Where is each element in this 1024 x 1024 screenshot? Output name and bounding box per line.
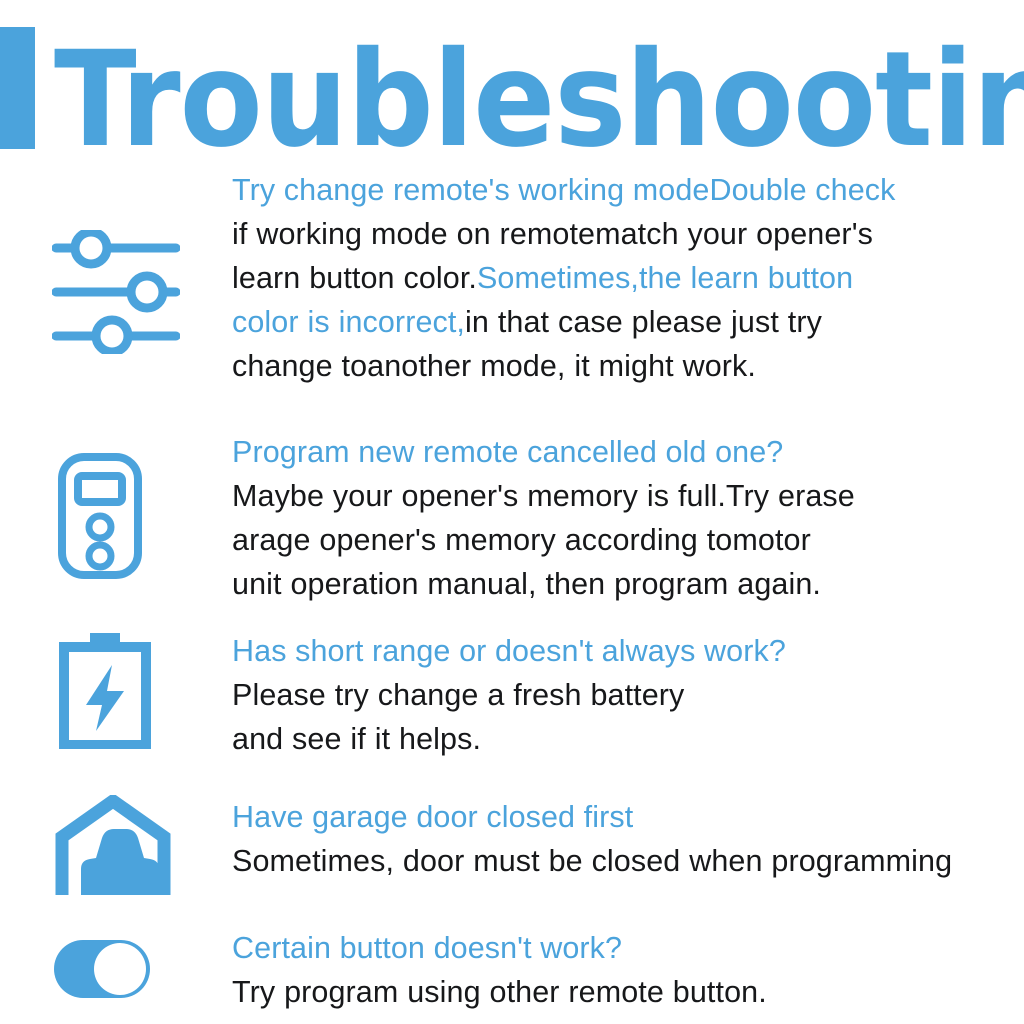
garage-car-icon bbox=[52, 795, 174, 899]
icon-cell bbox=[0, 168, 232, 354]
section-line: if working mode on remotematch your open… bbox=[232, 212, 1018, 256]
icon-cell bbox=[0, 430, 232, 580]
section-line: color is incorrect,in that case please j… bbox=[232, 300, 1018, 344]
sliders-icon bbox=[52, 230, 180, 354]
battery-icon bbox=[52, 631, 162, 749]
section-heading: Try change remote's working modeDouble c… bbox=[232, 168, 1018, 212]
remote-control-icon bbox=[52, 452, 164, 580]
section-line: Try program using other remote button. bbox=[232, 970, 1018, 1014]
section-line: Sometimes, door must be closed when prog… bbox=[232, 839, 1018, 883]
section-line: Maybe your opener's memory is full.Try e… bbox=[232, 474, 1018, 518]
text-cell: Certain button doesn't work? Try program… bbox=[232, 926, 1024, 1014]
icon-cell bbox=[0, 926, 232, 1000]
section-line: and see if it helps. bbox=[232, 717, 1018, 761]
line-part: change toanother mode, it might work. bbox=[232, 349, 756, 383]
section-working-mode: Try change remote's working modeDouble c… bbox=[0, 168, 1024, 388]
line-part-highlight: Sometimes,the learn button bbox=[477, 261, 853, 295]
line-part-highlight: color is incorrect, bbox=[232, 305, 465, 339]
section-garage-door: Have garage door closed first Sometimes,… bbox=[0, 795, 1024, 899]
section-line: learn button color.Sometimes,the learn b… bbox=[232, 256, 1018, 300]
line-part: in that case please just try bbox=[465, 305, 822, 339]
text-cell: Program new remote cancelled old one? Ma… bbox=[232, 430, 1024, 606]
section-line: unit operation manual, then program agai… bbox=[232, 562, 1018, 606]
section-heading: Have garage door closed first bbox=[232, 795, 1018, 839]
text-cell: Have garage door closed first Sometimes,… bbox=[232, 795, 1024, 883]
page-header: Troubleshooting bbox=[0, 27, 1024, 149]
section-heading: Program new remote cancelled old one? bbox=[232, 430, 1018, 474]
section-memory: Program new remote cancelled old one? Ma… bbox=[0, 430, 1024, 606]
icon-cell bbox=[0, 795, 232, 899]
section-heading: Certain button doesn't work? bbox=[232, 926, 1018, 970]
section-line: change toanother mode, it might work. bbox=[232, 344, 1018, 388]
section-line: Please try change a fresh battery bbox=[232, 673, 1018, 717]
line-part: if working mode on remotematch your open… bbox=[232, 217, 873, 251]
section-toggle: Certain button doesn't work? Try program… bbox=[0, 926, 1024, 1014]
section-battery: Has short range or doesn't always work? … bbox=[0, 629, 1024, 761]
line-part: learn button color. bbox=[232, 261, 477, 295]
toggle-switch-icon bbox=[52, 938, 152, 1000]
section-heading: Has short range or doesn't always work? bbox=[232, 629, 1018, 673]
section-line: arage opener's memory according tomotor bbox=[232, 518, 1018, 562]
icon-cell bbox=[0, 629, 232, 749]
text-cell: Has short range or doesn't always work? … bbox=[232, 629, 1024, 761]
text-cell: Try change remote's working modeDouble c… bbox=[232, 168, 1024, 388]
title-accent-bar bbox=[0, 27, 35, 149]
